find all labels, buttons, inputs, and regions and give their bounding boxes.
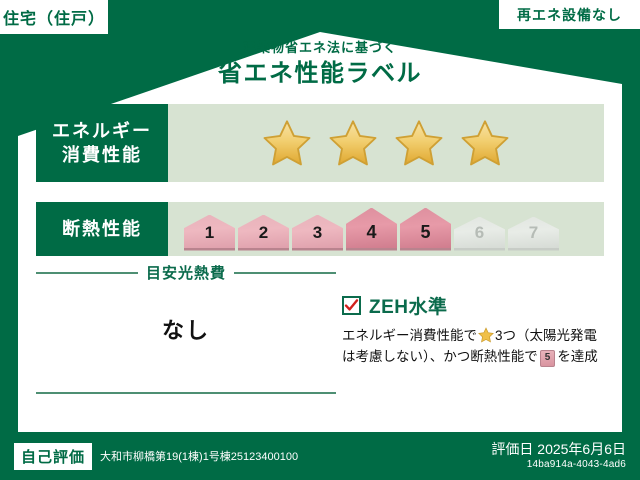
evaluation-date: 評価日 2025年6月6日: [491, 441, 626, 459]
insulation-level-4: 4: [346, 208, 397, 251]
insulation-level-value: 2: [259, 223, 268, 243]
self-evaluation-badge: 自己評価: [14, 443, 92, 470]
energy-cost-heading-row: 目安光熱費: [36, 262, 336, 283]
insulation-level-5: 5: [400, 208, 451, 251]
insulation-level-7: 7: [508, 217, 559, 251]
insulation-level-value: 7: [529, 223, 538, 243]
star-icon: [327, 118, 379, 168]
zeh-description: エネルギー消費性能で3つ（太陽光発電 は考慮しない）、かつ断熱性能で5を達成: [342, 326, 614, 368]
tab-housing-type[interactable]: 住宅（住戸）: [0, 0, 111, 37]
zeh-title: ZEH水準: [369, 292, 448, 319]
property-address: 大和市柳橋第19(1棟)1号棟25123400100: [100, 448, 298, 464]
insulation-performance-label-text: 断熱性能: [62, 217, 142, 241]
divider-right: [234, 272, 336, 274]
zeh-desc-stars: 3つ（太陽光発電: [495, 328, 597, 343]
page-title-main: 省エネ性能ラベル: [0, 59, 640, 89]
document-id: 14ba914a-4043-4ad6: [491, 458, 626, 471]
label-footer: 自己評価 大和市柳橋第19(1棟)1号棟25123400100 評価日 2025…: [0, 432, 640, 480]
energy-performance-value: [168, 104, 604, 182]
star-icon: [459, 118, 511, 168]
divider-left: [36, 272, 138, 274]
zeh-level-chip: 5: [540, 350, 556, 367]
insulation-level-3: 3: [292, 215, 343, 251]
footer-right: 評価日 2025年6月6日 14ba914a-4043-4ad6: [491, 441, 626, 472]
insulation-level-value: 3: [313, 223, 322, 243]
page-title: 建築物省エネ法に基づく 省エネ性能ラベル: [0, 40, 640, 89]
zeh-desc-part2: は考慮しない）、かつ断熱性能で: [342, 349, 538, 364]
tab-renewable-equipment-label: 再エネ設備なし: [517, 5, 622, 25]
insulation-level-value: 5: [420, 222, 430, 243]
check-icon: [344, 298, 359, 313]
star-icon: [261, 118, 313, 168]
star-icon: [478, 327, 494, 343]
tab-housing-type-label: 住宅（住戸）: [3, 5, 105, 29]
footer-left: 自己評価 大和市柳橋第19(1棟)1号棟25123400100: [14, 443, 298, 470]
energy-performance-row: エネルギー 消費性能: [36, 104, 604, 182]
insulation-performance-row: 断熱性能 1234567: [36, 202, 604, 256]
energy-performance-label-line1: エネルギー: [52, 119, 152, 143]
energy-cost-value: なし: [36, 313, 336, 345]
insulation-level-value: 4: [366, 222, 376, 243]
insulation-level-2: 2: [238, 215, 289, 251]
energy-cost-block: 目安光熱費 なし: [36, 262, 336, 345]
zeh-desc-part1: エネルギー消費性能で: [342, 328, 477, 343]
star-icon: [393, 118, 445, 168]
page-subtitle: 建築物省エネ法に基づく: [0, 40, 640, 56]
star-rating: [261, 118, 511, 168]
insulation-level-scale: 1234567: [184, 208, 559, 251]
insulation-performance-value: 1234567: [168, 202, 604, 256]
zeh-checkbox[interactable]: [342, 296, 361, 315]
energy-cost-bottom-divider: [36, 392, 336, 394]
insulation-level-value: 1: [205, 223, 214, 243]
zeh-heading-row: ZEH水準: [342, 292, 614, 319]
insulation-level-value: 6: [475, 223, 484, 243]
insulation-performance-label: 断熱性能: [36, 202, 168, 256]
tab-renewable-equipment[interactable]: 再エネ設備なし: [496, 0, 640, 32]
insulation-level-6: 6: [454, 217, 505, 251]
energy-performance-label: エネルギー 消費性能: [36, 104, 168, 182]
zeh-block: ZEH水準 エネルギー消費性能で3つ（太陽光発電 は考慮しない）、かつ断熱性能で…: [342, 292, 614, 368]
energy-cost-heading: 目安光熱費: [146, 262, 226, 283]
zeh-desc-part3: を達成: [557, 349, 598, 364]
insulation-level-1: 1: [184, 215, 235, 251]
energy-performance-label-line2: 消費性能: [62, 143, 142, 167]
energy-performance-label: 住宅（住戸） 再エネ設備なし 建築物省エネ法に基づく 省エネ性能ラベル エネルギ…: [0, 0, 640, 480]
